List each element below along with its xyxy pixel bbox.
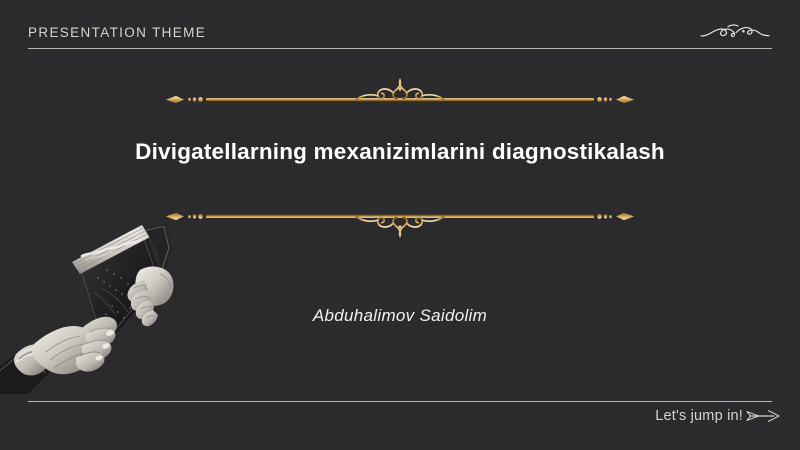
cta-text: Let's jump in! [655, 408, 743, 424]
footer-divider-line [28, 401, 772, 402]
hands-holding-book-engraving [0, 222, 190, 394]
gold-ornament-divider-icon [160, 196, 640, 242]
page-title: Divigatellarning mexanizimlarini diagnos… [60, 139, 740, 165]
presentation-slide: PRESENTATION THEME [0, 0, 800, 450]
swirl-flourish-icon [698, 19, 772, 45]
header-label: PRESENTATION THEME [28, 25, 206, 40]
decorative-arrow-icon [746, 407, 780, 425]
gold-ornament-divider-icon [160, 74, 640, 120]
header-divider-line [28, 48, 772, 49]
